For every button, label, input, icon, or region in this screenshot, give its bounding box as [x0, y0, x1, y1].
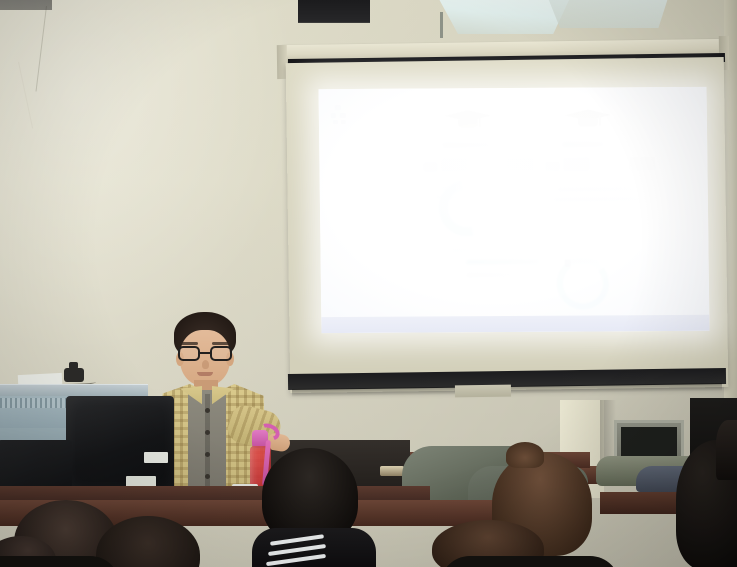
slide-heading-left: [443, 143, 489, 147]
presenter-shirt-button: [205, 452, 210, 457]
light-support-rod: [440, 12, 443, 38]
audience-body-center: [252, 528, 376, 567]
monitor-label: [144, 452, 168, 463]
presenter-mouth: [197, 372, 213, 376]
audience-ponytail: [506, 442, 544, 468]
presenter-nose: [202, 360, 209, 369]
lecture-hall-photo: [0, 0, 737, 567]
graduation-cap-icon: [445, 106, 491, 138]
audience-head-right-edge: [716, 420, 737, 480]
progress-ring-left: [429, 170, 506, 247]
progress-ring-right-marker: [565, 260, 571, 267]
audience-shoulder-right: [440, 556, 620, 567]
slide-logo-mark: [331, 105, 357, 125]
slide-ring-left-caption: [452, 248, 494, 252]
ceiling-light-fixture-2: [548, 0, 668, 28]
power-adapter: [64, 368, 84, 382]
slide-card-row-right: [545, 157, 665, 176]
presenter-shirt-button: [205, 430, 210, 435]
presenter-eyebrow-right: [212, 342, 230, 345]
slide-heading-right: [563, 142, 603, 146]
slide-footer-band: [321, 315, 709, 333]
presenter-shirt-button: [205, 408, 210, 413]
slide-caption-center: [467, 260, 539, 264]
slide-body-right-line-2: [554, 197, 646, 202]
wall-light-sheen: [0, 0, 300, 360]
monitor: [66, 396, 174, 491]
screen-pull-handle[interactable]: [455, 385, 511, 398]
glasses-icon: [178, 346, 232, 361]
collar-stripe: [270, 534, 324, 545]
book-on-bench: [380, 466, 404, 476]
graduation-cap-icon: [565, 105, 611, 137]
audience-shoulder-left: [0, 556, 120, 567]
slide-caption-center-sub: [467, 273, 513, 277]
slide-card-row-left: [423, 158, 543, 177]
ceiling-panel-icon: [298, 0, 370, 23]
projected-slide: [319, 87, 710, 333]
slide-body-right-line-1: [558, 187, 636, 191]
collar-stripe: [266, 554, 326, 566]
presenter-eyebrow-left: [180, 342, 198, 345]
presenter-shirt-button: [205, 474, 210, 479]
projection-glow: [319, 87, 710, 333]
ceiling-panel-secondary: [0, 0, 52, 10]
